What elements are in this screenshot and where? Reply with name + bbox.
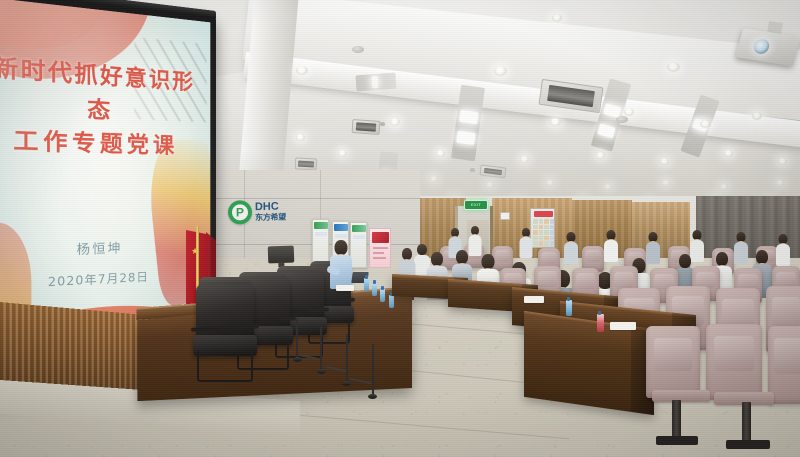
water-bottle (389, 295, 394, 308)
water-bottle (566, 300, 572, 316)
attendee-person (564, 232, 578, 264)
downlight-icon (494, 66, 507, 76)
exit-sign: EXIT (464, 200, 488, 210)
ceiling-speaker-icon (616, 116, 628, 123)
wall-notice-small (500, 212, 510, 220)
water-bottle (364, 278, 369, 291)
papers (524, 296, 544, 303)
sprinkler-icon (380, 122, 385, 126)
wall-notice-board[interactable] (530, 208, 555, 248)
logo-text-line2: 东方希望 (255, 214, 286, 223)
microphone-stand (346, 334, 348, 384)
notice-board-header (534, 211, 553, 217)
speaker-person (330, 240, 352, 290)
downlight-icon (700, 120, 711, 128)
downlight-icon (624, 108, 634, 116)
downlight-icon (296, 66, 308, 75)
slide-title-line1: 新时代抓好意识形态 (0, 50, 200, 131)
company-logo: DHC 东方希望 (228, 191, 293, 232)
slide-date: 2020年7月28日 (48, 268, 149, 290)
conference-hall-photo: EXIT DHC 东方希望 (0, 0, 800, 457)
downlight-icon (390, 118, 400, 126)
notice-board-grid (533, 219, 554, 246)
downlight-icon (296, 134, 305, 141)
auditorium-seat[interactable] (706, 324, 762, 400)
event-poster (369, 228, 391, 268)
downlight-icon (752, 112, 762, 120)
downlight-icon (667, 62, 680, 72)
logo-text-line1: DHC (255, 202, 286, 214)
microphone-base (368, 394, 377, 399)
slide-title: 新时代抓好意识形态 工作专题党课 (0, 50, 200, 163)
downlight-icon (552, 14, 562, 22)
microphone-base (342, 381, 351, 386)
auditorium-seat[interactable] (646, 326, 700, 398)
microphone-stand (320, 326, 322, 372)
water-bottle (372, 283, 377, 296)
attendee-person (519, 228, 532, 258)
seat-leg (672, 400, 681, 440)
logo-text: DHC 东方希望 (255, 202, 286, 223)
roll-up-banner (350, 222, 367, 268)
microphone-stand (372, 344, 374, 398)
ac-vent-icon (352, 119, 381, 135)
papers (610, 322, 636, 330)
water-bottle (597, 314, 604, 332)
microphone-base (293, 357, 302, 362)
ceiling-speaker-icon (352, 46, 364, 53)
attendee-person (776, 234, 790, 266)
microphone-stand (296, 318, 298, 360)
microphone-base (317, 369, 326, 374)
desktop-monitor (268, 246, 295, 264)
attendee-person (734, 232, 748, 264)
downlight-icon (550, 118, 561, 126)
ceiling-light-strip (355, 73, 396, 92)
seat-leg (742, 402, 751, 444)
black-leather-chair[interactable] (196, 284, 254, 380)
slide-presenter: 杨恒坤 (77, 238, 123, 258)
poster-header (372, 232, 389, 243)
logo-mark-icon (228, 200, 252, 224)
attendee-person (604, 230, 618, 262)
seat-foot (656, 436, 698, 445)
papers (336, 285, 354, 291)
exit-sign-label: EXIT (471, 203, 481, 207)
water-bottle (380, 289, 385, 302)
seat-armrest (652, 390, 710, 402)
seat-foot (726, 440, 770, 449)
